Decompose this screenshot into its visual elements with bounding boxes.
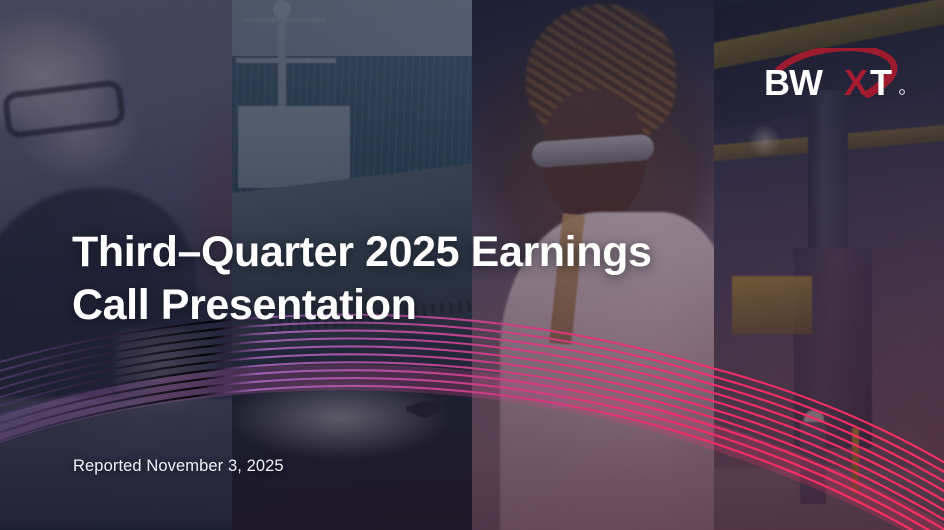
bwxt-logo: BW X T: [760, 48, 912, 104]
logo-letter-x: X: [844, 62, 868, 103]
logo-letter-t: T: [870, 62, 892, 103]
page-title-line-2: Call Presentation: [72, 279, 712, 332]
page-title-line-1: Third–Quarter 2025 Earnings: [72, 226, 712, 279]
registered-trademark-icon: [900, 90, 905, 95]
logo-letters-bw: BW: [764, 62, 823, 103]
report-date-label: Reported November 3, 2025: [73, 457, 284, 476]
page-title: Third–Quarter 2025 Earnings Call Present…: [72, 226, 712, 332]
presentation-title-slide: BW X T Third–Quarter 2025 Earnings Call …: [0, 0, 944, 530]
